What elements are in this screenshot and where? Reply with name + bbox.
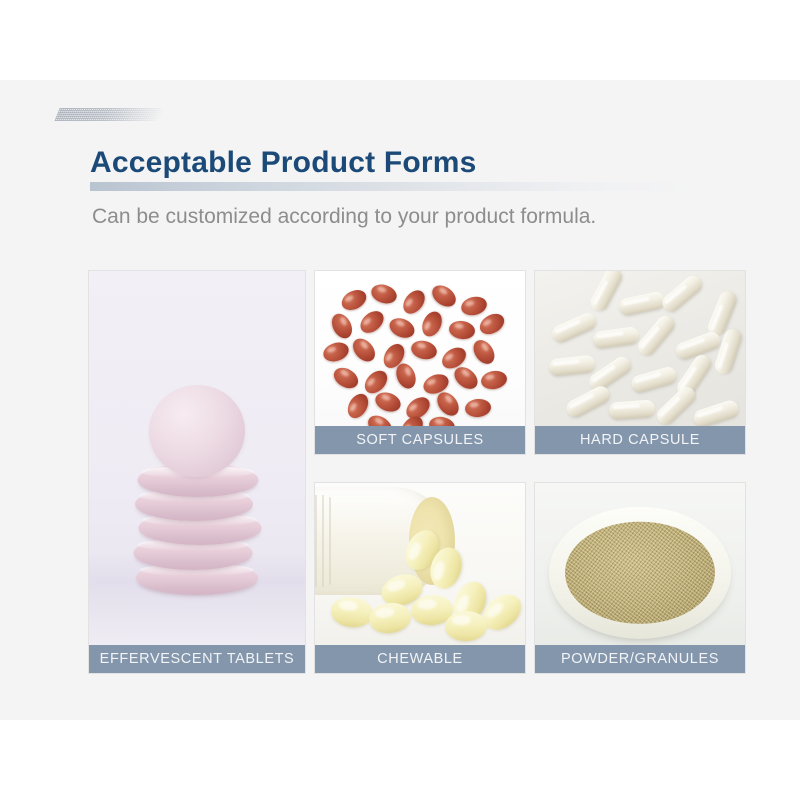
hard-capsule — [564, 383, 613, 420]
product-card-hard-capsule[interactable]: HARD CAPSULE — [534, 270, 746, 455]
softgel-capsule — [373, 389, 404, 415]
product-caption-hard-capsule: HARD CAPSULE — [535, 426, 745, 454]
hard-capsule — [550, 310, 599, 344]
page-subtitle: Can be customized according to your prod… — [92, 205, 596, 229]
softgel-capsule — [399, 286, 429, 318]
ceramic-dish — [549, 507, 731, 639]
softgel-capsule — [349, 334, 380, 365]
softgel-capsule — [469, 336, 498, 368]
product-forms-page: Acceptable Product Forms Can be customiz… — [0, 0, 800, 800]
product-card-soft-capsules[interactable]: SOFT CAPSULES — [314, 270, 526, 455]
product-card-powder-granules[interactable]: POWDER/GRANULES — [534, 482, 746, 674]
product-card-effervescent-tablets[interactable]: EFFERVESCENT TABLETS — [88, 270, 306, 674]
softgel-capsule — [338, 286, 369, 314]
softgel-capsule — [369, 281, 399, 306]
hard-capsule — [630, 365, 679, 394]
hard-capsule — [635, 312, 678, 358]
softgel-capsule — [459, 294, 489, 318]
softgel-capsule — [328, 310, 356, 341]
granule-texture — [565, 521, 714, 624]
softgel-capsule — [386, 314, 417, 341]
hard-capsule — [548, 355, 596, 377]
tablet-stack — [129, 395, 265, 595]
softgel-capsule — [344, 390, 373, 422]
hard-capsule — [659, 272, 705, 315]
chewable-tablet — [444, 610, 487, 641]
softgel-capsule — [330, 364, 362, 393]
chewable-tablet — [367, 600, 413, 636]
bottle-ridges — [314, 495, 335, 587]
effervescent-tablets-photo — [89, 271, 305, 673]
hard-capsule — [618, 290, 667, 316]
softgel-capsule — [356, 307, 387, 338]
product-caption-powder-granules: POWDER/GRANULES — [535, 645, 745, 673]
product-forms-grid: EFFERVESCENT TABLETS — [88, 270, 746, 674]
hard-capsule — [654, 383, 699, 427]
page-title: Acceptable Product Forms — [90, 146, 477, 180]
softgel-capsule — [321, 339, 351, 364]
softgel-capsule — [480, 369, 509, 391]
hard-capsule — [608, 399, 655, 419]
softgel-capsule — [418, 308, 445, 339]
product-card-chewable[interactable]: CHEWABLE — [314, 482, 526, 674]
hard-capsule — [691, 398, 740, 428]
softgel-capsule — [428, 281, 460, 311]
title-underline-bar — [90, 182, 700, 191]
hard-capsule — [592, 326, 640, 349]
halftone-slash-decoration — [54, 108, 164, 121]
product-caption-chewable: CHEWABLE — [315, 645, 525, 673]
product-caption-soft-capsules: SOFT CAPSULES — [315, 426, 525, 454]
softgel-capsule — [464, 398, 492, 419]
softgel-capsule — [448, 319, 476, 340]
softgel-capsule — [476, 310, 508, 339]
chewable-tablet — [330, 595, 375, 629]
product-caption-effervescent-tablets: EFFERVESCENT TABLETS — [89, 645, 305, 673]
softgel-capsule — [409, 338, 439, 362]
